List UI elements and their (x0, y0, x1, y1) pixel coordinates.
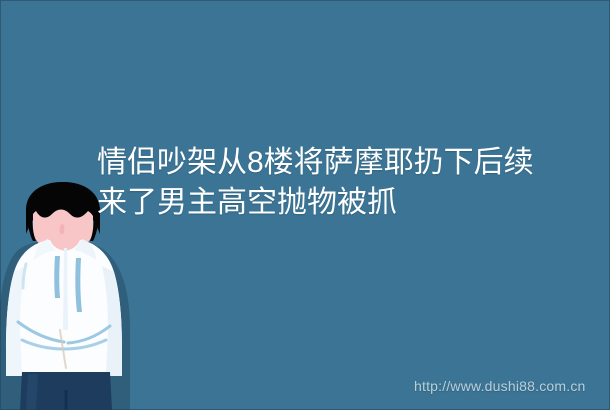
watermark-url: http://www.dushi88.com.cn (414, 377, 586, 395)
headline-line-2: 来了男主高空抛物被抓 (97, 183, 597, 223)
headline-text: 情侣吵架从8楼将萨摩耶扔下后续 来了男主高空抛物被抓 (97, 143, 597, 223)
headline-line-1: 情侣吵架从8楼将萨摩耶扔下后续 (97, 143, 597, 183)
image-canvas: 情侣吵架从8楼将萨摩耶扔下后续 来了男主高空抛物被抓 http://www.du… (0, 0, 610, 410)
hoodie-drawstring-left (54, 256, 60, 298)
pants-highlight (26, 374, 38, 410)
